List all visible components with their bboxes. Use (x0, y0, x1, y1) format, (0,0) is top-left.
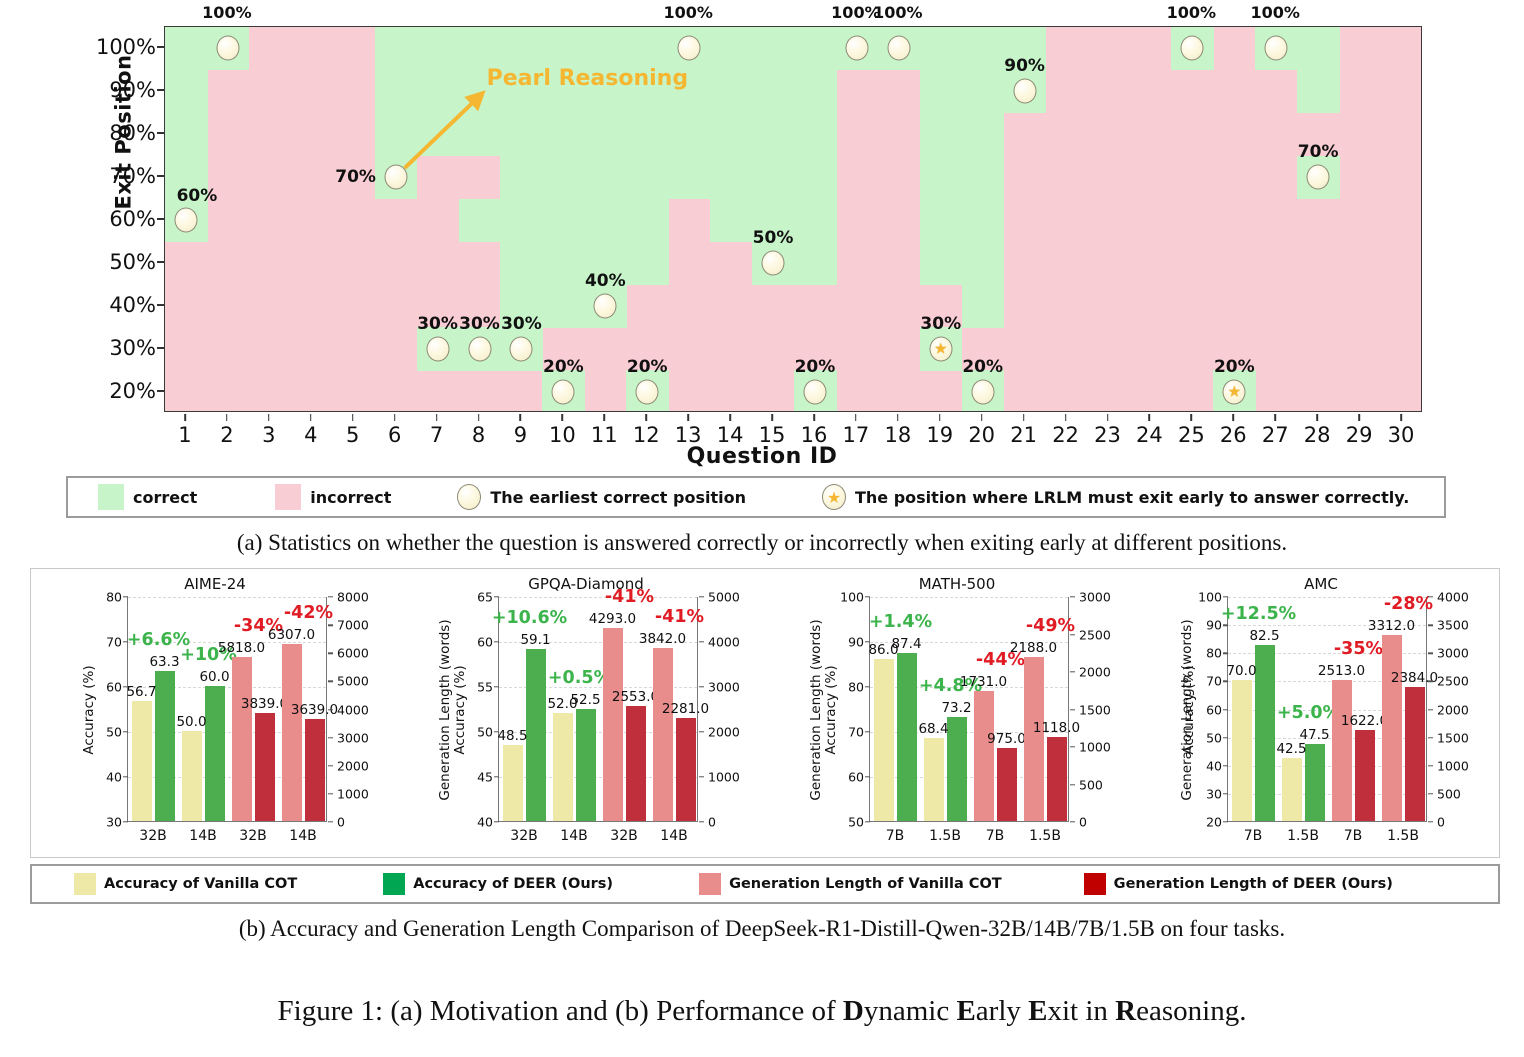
y-tick-mark (157, 347, 164, 349)
figure-caption-text-4: xit in (1047, 995, 1115, 1027)
heatmap-cell-correct[interactable] (920, 156, 963, 199)
left-axis-tick-mark (494, 686, 499, 687)
bar-value-label: 6307.0 (268, 627, 315, 643)
x-tick-mark (1023, 414, 1025, 421)
bar-chart-math-500: MATH-50086.087.4+1.4%7B68.473.2+4.8%1.5B… (773, 569, 1141, 859)
bar-accuracy-vanilla[interactable] (553, 713, 573, 821)
x-category-label: 7B (1244, 828, 1263, 844)
heatmap-marker-label: 100% (873, 3, 922, 22)
heatmap-cell-correct[interactable] (375, 70, 418, 113)
heatmap-cell-correct[interactable] (962, 284, 1005, 327)
bar-value-label: 4293.0 (589, 611, 636, 627)
figure-caption: Figure 1: (a) Motivation and (b) Perform… (0, 995, 1524, 1028)
heatmap-cell-correct[interactable] (542, 199, 585, 242)
figure-caption-text-5: easoning. (1136, 995, 1246, 1027)
right-axis-tick-mark (328, 653, 333, 654)
heatmap-cell-correct[interactable] (710, 27, 753, 70)
bar-value-label: 70.0 (1226, 663, 1256, 679)
y-tick-label: 20% (64, 379, 156, 403)
right-axis-tick-mark (1428, 821, 1433, 822)
figure-caption-text-1: (a) Motivation and (b) Performance of (383, 995, 843, 1027)
heatmap-marker-label: 100% (202, 3, 251, 22)
heatmap-cell-correct[interactable] (710, 199, 753, 242)
bar-accuracy-vanilla[interactable] (1282, 758, 1302, 821)
heatmap-cell-correct[interactable] (626, 241, 669, 284)
heatmap-marker-label: 30% (501, 314, 542, 334)
bar-value-label: 2281.0 (662, 701, 709, 717)
pearl-marker-icon[interactable] (174, 208, 197, 233)
x-tick-mark (645, 414, 647, 421)
panel-b-performance: AIME-2456.763.3+6.6%32B50.060.0+10%14B58… (0, 568, 1524, 918)
pearl-marker-icon[interactable] (887, 36, 910, 61)
right-axis-tick-label: 3000 (337, 730, 381, 745)
heatmap-marker-label: 90% (1004, 56, 1045, 76)
right-axis-tick-label: 5000 (708, 590, 752, 605)
right-axis-tick-mark (328, 681, 333, 682)
bar-length-deer[interactable] (1405, 687, 1425, 821)
legend-label-earliest-correct: The earliest correct position (490, 488, 746, 507)
left-axis-tick-mark (865, 776, 870, 777)
bar-accuracy-vanilla[interactable] (132, 701, 152, 821)
bar-accuracy-deer[interactable] (897, 653, 917, 821)
pink-square-icon-b (699, 873, 721, 895)
bar-length-deer[interactable] (305, 719, 325, 821)
x-category-label: 14B (660, 828, 687, 844)
heatmap-cell-correct[interactable] (165, 113, 208, 156)
x-category-label: 1.5B (1387, 828, 1419, 844)
green-square-icon-b (383, 873, 405, 895)
plot-area: 56.763.3+6.6%32B50.060.0+10%14B5818.0383… (127, 597, 327, 822)
bar-value-label: 82.5 (1249, 628, 1279, 644)
left-axis-tick-mark (1223, 709, 1228, 710)
right-axis-tick-label: 500 (1079, 777, 1123, 792)
x-category-label: 1.5B (1029, 828, 1061, 844)
bar-length-vanilla[interactable] (282, 644, 302, 821)
pearl-circle-icon (457, 484, 481, 510)
left-axis-tick-mark (865, 686, 870, 687)
heatmap-cell-correct[interactable] (584, 27, 627, 70)
right-axis-tick-mark (328, 624, 333, 625)
x-tick-mark (771, 414, 773, 421)
pearl-marker-icon[interactable] (636, 379, 659, 404)
pearl-marker-icon[interactable] (762, 250, 785, 275)
y-tick-mark (157, 390, 164, 392)
right-axis-tick-label: 2500 (1437, 674, 1481, 689)
bar-accuracy-deer[interactable] (947, 717, 967, 821)
bar-accuracy-deer[interactable] (526, 649, 546, 821)
bar-length-deer[interactable] (626, 706, 646, 821)
pearl-marker-icon[interactable] (971, 379, 994, 404)
heatmap-cell-correct[interactable] (794, 156, 837, 199)
pearl-marker-icon[interactable] (1265, 36, 1288, 61)
heatmap-cell-correct[interactable] (500, 241, 543, 284)
heatmap-cell-correct[interactable] (500, 113, 543, 156)
bar-length-deer[interactable] (255, 713, 275, 821)
gridline (128, 597, 326, 598)
figure-caption-bold-r: R (1115, 995, 1136, 1027)
right-axis-tick-label: 2000 (1437, 702, 1481, 717)
plot-area: 70.082.5+12.5%7B42.547.5+5.0%1.5B2513.01… (1227, 597, 1427, 822)
right-axis-tick-label: 2500 (1079, 627, 1123, 642)
heatmap-marker-label: 20% (627, 357, 668, 377)
star-circle-icon: ★ (822, 484, 846, 510)
x-axis-label-question-id: Question ID (0, 444, 1524, 469)
bar-length-vanilla[interactable] (603, 628, 623, 821)
heatmap-cell-correct[interactable] (920, 113, 963, 156)
bar-accuracy-vanilla[interactable] (874, 659, 894, 821)
heatmap-cell-correct[interactable] (500, 156, 543, 199)
bar-accuracy-deer[interactable] (205, 686, 225, 821)
heatmap-cell-correct[interactable] (626, 113, 669, 156)
heatmap-cell-correct[interactable] (962, 199, 1005, 242)
green-square-icon (98, 484, 124, 510)
figure-caption-text-3: arly (976, 995, 1028, 1027)
bar-accuracy-deer[interactable] (155, 671, 175, 821)
y-tick-mark (157, 175, 164, 177)
heatmap-cell-correct[interactable] (459, 113, 502, 156)
bar-value-label: 52.5 (570, 692, 600, 708)
panel-a-caption: (a) Statistics on whether the question i… (0, 530, 1524, 556)
heatmap-cell-correct[interactable] (752, 156, 795, 199)
delta-label: -28% (1384, 594, 1433, 614)
x-tick-mark (352, 414, 354, 421)
bar-accuracy-vanilla[interactable] (182, 731, 202, 821)
pearl-marker-icon[interactable] (803, 379, 826, 404)
heatmap-cell-correct[interactable] (920, 27, 963, 70)
bar-chart-aime-24: AIME-2456.763.3+6.6%32B50.060.0+10%14B58… (31, 569, 399, 859)
right-axis-tick-mark (1428, 624, 1433, 625)
bar-value-label: 42.5 (1276, 741, 1306, 757)
bar-length-deer[interactable] (1355, 730, 1375, 821)
right-axis-tick-mark (328, 737, 333, 738)
pearl-marker-icon[interactable] (384, 165, 407, 190)
left-axis-tick-mark (494, 596, 499, 597)
bar-value-label: 975.0 (987, 731, 1026, 747)
heatmap-grid[interactable]: 60%70%30%30%30%20%40%20%50%20%★30%20%90%… (164, 26, 1422, 412)
right-axis-tick-mark (1070, 784, 1075, 785)
x-tick-mark (1149, 414, 1151, 421)
x-tick-mark (981, 414, 983, 421)
bar-length-deer[interactable] (997, 748, 1017, 821)
delta-label: -35% (1334, 639, 1383, 659)
heatmap-cell-correct[interactable] (752, 113, 795, 156)
bar-chart-gpqa-diamond: GPQA-Diamond48.559.1+10.6%32B52.052.5+0.… (402, 569, 770, 859)
left-axis-tick-mark (1223, 624, 1228, 625)
y-tick-mark (157, 46, 164, 48)
bar-accuracy-vanilla[interactable] (503, 745, 523, 822)
star-glyph-icon: ★ (1228, 384, 1241, 399)
left-axis-tick-mark (865, 821, 870, 822)
heatmap-marker-label: 70% (335, 167, 376, 187)
right-axis-tick-label: 3000 (708, 680, 752, 695)
left-axis-tick-label: 20 (1192, 815, 1222, 830)
left-axis-tick-mark (123, 821, 128, 822)
bar-length-deer[interactable] (1047, 737, 1067, 821)
heatmap-cell-correct[interactable] (165, 27, 208, 70)
right-axis-tick-label: 1000 (1079, 740, 1123, 755)
heatmap-marker-label: 60% (177, 186, 218, 206)
x-category-label: 32B (510, 828, 537, 844)
bar-length-deer[interactable] (676, 718, 696, 821)
star-marker-icon[interactable]: ★ (1223, 379, 1246, 404)
x-tick-mark (855, 414, 857, 421)
heatmap-cell-correct[interactable] (542, 284, 585, 327)
legend-item-length-deer: Generation Length of DEER (Ours) (1084, 873, 1393, 895)
bar-value-label: 2513.0 (1318, 663, 1365, 679)
heatmap-cell-correct[interactable] (626, 27, 669, 70)
bar-length-vanilla[interactable] (1024, 657, 1044, 821)
right-axis-tick-label: 7000 (337, 618, 381, 633)
legend-label-incorrect: incorrect (310, 488, 391, 507)
bar-length-vanilla[interactable] (974, 691, 994, 821)
bar-accuracy-vanilla[interactable] (1232, 680, 1252, 821)
heatmap-cell-correct[interactable] (752, 70, 795, 113)
heatmap-cell-correct[interactable] (542, 27, 585, 70)
bar-value-label: 48.5 (497, 728, 527, 744)
right-axis-tick-mark (1070, 671, 1075, 672)
bar-value-label: 1731.0 (960, 674, 1007, 690)
x-category-label: 14B (560, 828, 587, 844)
y-tick-label: 60% (64, 207, 156, 231)
right-axis-tick-mark (699, 686, 704, 687)
heatmap-cell-correct[interactable] (417, 70, 460, 113)
x-tick-mark (939, 414, 941, 421)
bar-length-vanilla[interactable] (1332, 680, 1352, 821)
right-axis-tick-label: 1500 (1437, 730, 1481, 745)
heatmap-cell-correct[interactable] (584, 199, 627, 242)
heatmap-cell-correct[interactable] (1297, 27, 1340, 70)
bar-value-label: 59.1 (520, 632, 550, 648)
heatmap-cell-correct[interactable] (626, 156, 669, 199)
left-axis-tick-mark (1223, 596, 1228, 597)
right-axis-tick-label: 3000 (1437, 646, 1481, 661)
left-axis-tick-mark (123, 596, 128, 597)
heatmap-cell-correct[interactable] (375, 113, 418, 156)
right-axis-tick-label: 0 (708, 815, 752, 830)
right-axis-tick-mark (1070, 634, 1075, 635)
left-axis-tick-mark (865, 641, 870, 642)
right-axis-tick-label: 4000 (708, 635, 752, 650)
right-axis-tick-mark (1428, 765, 1433, 766)
x-category-label: 32B (239, 828, 266, 844)
heatmap-cell-correct[interactable] (542, 241, 585, 284)
heatmap-cell-correct[interactable] (794, 113, 837, 156)
panel-a-legend: correct incorrect The earliest correct p… (66, 476, 1446, 518)
bar-length-vanilla[interactable] (653, 648, 673, 821)
pearl-marker-icon[interactable] (845, 36, 868, 61)
x-tick-mark (394, 414, 396, 421)
right-axis-tick-label: 0 (1437, 815, 1481, 830)
heatmap-cell-correct[interactable] (794, 70, 837, 113)
bar-accuracy-deer[interactable] (576, 709, 596, 822)
heatmap-cell-correct[interactable] (962, 241, 1005, 284)
bar-length-vanilla[interactable] (1382, 635, 1402, 821)
pink-square-icon (275, 484, 301, 510)
right-axis-tick-mark (328, 709, 333, 710)
x-tick-mark (1191, 414, 1193, 421)
left-axis-title: Accuracy (%) (81, 630, 97, 790)
pearl-marker-icon[interactable] (1013, 79, 1036, 104)
heatmap-cell-correct[interactable] (500, 27, 543, 70)
heatmap-marker-label: 100% (1167, 3, 1216, 22)
plot-area: 86.087.4+1.4%7B68.473.2+4.8%1.5B1731.097… (869, 597, 1069, 822)
left-axis-title: Accuracy (%) (1181, 630, 1197, 790)
heatmap-cell-correct[interactable] (500, 199, 543, 242)
right-axis-tick-label: 4000 (1437, 590, 1481, 605)
figure-caption-bold-e2: E (1028, 995, 1047, 1027)
left-axis-tick-mark (1223, 793, 1228, 794)
heatmap-cell-correct[interactable] (794, 27, 837, 70)
right-axis-tick-label: 2000 (1079, 665, 1123, 680)
x-tick-mark (1233, 414, 1235, 421)
right-axis-tick-label: 3000 (1079, 590, 1123, 605)
pearl-marker-icon[interactable] (426, 336, 449, 361)
darkred-square-icon (1084, 873, 1106, 895)
bar-accuracy-deer[interactable] (1305, 744, 1325, 821)
bar-value-label: 3842.0 (639, 631, 686, 647)
right-axis-tick-label: 4000 (337, 702, 381, 717)
heatmap-marker-label: 70% (1298, 142, 1339, 162)
heatmap-cell-correct[interactable] (542, 156, 585, 199)
heatmap-cell-correct[interactable] (165, 70, 208, 113)
x-tick-mark (562, 414, 564, 421)
right-axis-tick-label: 500 (1437, 786, 1481, 801)
x-category-label: 14B (289, 828, 316, 844)
x-tick-mark (478, 414, 480, 421)
heatmap-cell-correct[interactable] (626, 199, 669, 242)
heatmap-cell-correct[interactable] (962, 156, 1005, 199)
heatmap-cell-correct[interactable] (710, 156, 753, 199)
x-category-label: 7B (1344, 828, 1363, 844)
right-axis-tick-label: 3500 (1437, 618, 1481, 633)
heatmap-cell-correct[interactable] (752, 27, 795, 70)
y-tick-label: 70% (64, 164, 156, 188)
heatmap-cell-correct[interactable] (459, 199, 502, 242)
heatmap-marker-label: 20% (795, 357, 836, 377)
x-category-label: 1.5B (1287, 828, 1319, 844)
heatmap-cell-correct[interactable] (584, 156, 627, 199)
heatmap-cell-correct[interactable] (920, 241, 963, 284)
right-axis-tick-mark (699, 641, 704, 642)
pearl-marker-icon[interactable] (1307, 165, 1330, 190)
delta-label: -42% (284, 603, 333, 623)
heatmap-cell-correct[interactable] (962, 27, 1005, 70)
pearl-marker-icon[interactable] (594, 293, 617, 318)
pearl-marker-icon[interactable] (552, 379, 575, 404)
x-tick-mark (813, 414, 815, 421)
legend-item-length-vanilla: Generation Length of Vanilla COT (699, 873, 1002, 895)
delta-label: -49% (1026, 616, 1075, 636)
legend-label-must-exit-early: The position where LRLM must exit early … (855, 488, 1409, 507)
right-axis-tick-mark (1428, 653, 1433, 654)
heatmap-cell-correct[interactable] (542, 113, 585, 156)
bar-value-label: 2188.0 (1010, 640, 1057, 656)
heatmap-cell-correct[interactable] (584, 113, 627, 156)
left-axis-tick-mark (1223, 681, 1228, 682)
left-axis-tick-mark (1223, 737, 1228, 738)
left-axis-title: Accuracy (%) (823, 630, 839, 790)
heatmap-cell-correct[interactable] (417, 113, 460, 156)
x-tick-mark (729, 414, 731, 421)
star-glyph-icon: ★ (934, 341, 947, 356)
heatmap-cell-correct[interactable] (794, 199, 837, 242)
right-axis-tick-mark (699, 776, 704, 777)
pearl-marker-icon[interactable] (1181, 36, 1204, 61)
bar-accuracy-deer[interactable] (1255, 645, 1275, 821)
heatmap-cell-correct[interactable] (459, 27, 502, 70)
x-tick-mark (436, 414, 438, 421)
heatmap-cell-correct[interactable] (920, 70, 963, 113)
heatmap-cell-correct[interactable] (710, 113, 753, 156)
left-axis-tick-mark (865, 731, 870, 732)
heatmap-cell-correct[interactable] (794, 241, 837, 284)
bar-value-label: 56.7 (126, 684, 156, 700)
bar-value-label: 50.0 (176, 714, 206, 730)
right-axis-tick-label: 2000 (708, 725, 752, 740)
yellow-square-icon (74, 873, 96, 895)
delta-label: +10.6% (492, 608, 567, 628)
legend-item-correct: correct (98, 484, 197, 510)
right-axis-tick-mark (328, 821, 333, 822)
star-marker-icon[interactable]: ★ (929, 336, 952, 361)
legend-item-incorrect: incorrect (275, 484, 391, 510)
bar-value-label: 3312.0 (1368, 618, 1415, 634)
heatmap-cell-correct[interactable] (962, 113, 1005, 156)
right-axis-tick-mark (328, 596, 333, 597)
heatmap-cell-correct[interactable] (417, 27, 460, 70)
heatmap-cell-correct[interactable] (920, 199, 963, 242)
heatmap-cell-correct[interactable] (962, 70, 1005, 113)
right-axis-tick-label: 5000 (337, 674, 381, 689)
x-tick-mark (520, 414, 522, 421)
left-axis-tick-label: 100 (834, 590, 864, 605)
right-axis-tick-mark (1428, 681, 1433, 682)
heatmap-cell-correct[interactable] (710, 70, 753, 113)
x-tick-mark (1358, 414, 1360, 421)
left-axis-tick-mark (494, 821, 499, 822)
left-axis-tick-label: 100 (1192, 590, 1222, 605)
x-tick-mark (687, 414, 689, 421)
x-category-label: 32B (139, 828, 166, 844)
bar-length-vanilla[interactable] (232, 657, 252, 821)
heatmap-cell-correct[interactable] (375, 27, 418, 70)
bar-accuracy-vanilla[interactable] (924, 738, 944, 821)
y-tick-label: 100% (64, 35, 156, 59)
pearl-marker-icon[interactable] (510, 336, 533, 361)
x-category-label: 14B (189, 828, 216, 844)
pearl-marker-icon[interactable] (216, 36, 239, 61)
left-axis-tick-mark (1223, 821, 1228, 822)
heatmap-cell-correct[interactable] (668, 156, 711, 199)
right-axis-tick-mark (328, 793, 333, 794)
right-axis-tick-mark (328, 765, 333, 766)
legend-label-length-deer: Generation Length of DEER (Ours) (1114, 876, 1393, 892)
left-axis-tick-mark (494, 641, 499, 642)
legend-item-earliest-correct: The earliest correct position (457, 484, 746, 510)
heatmap-cell-correct[interactable] (668, 113, 711, 156)
x-axis-ticks: 1234567891011121314151617181920212223242… (164, 414, 1422, 444)
x-category-label: 1.5B (929, 828, 961, 844)
bar-value-label: 68.4 (918, 721, 948, 737)
right-axis-tick-label: 6000 (337, 646, 381, 661)
x-tick-mark (1274, 414, 1276, 421)
bar-value-label: 73.2 (941, 700, 971, 716)
pearl-marker-icon[interactable] (468, 336, 491, 361)
pearl-marker-icon[interactable] (678, 36, 701, 61)
left-axis-tick-label: 80 (92, 590, 122, 605)
heatmap-cell-correct[interactable] (1297, 70, 1340, 113)
left-axis-tick-mark (494, 731, 499, 732)
